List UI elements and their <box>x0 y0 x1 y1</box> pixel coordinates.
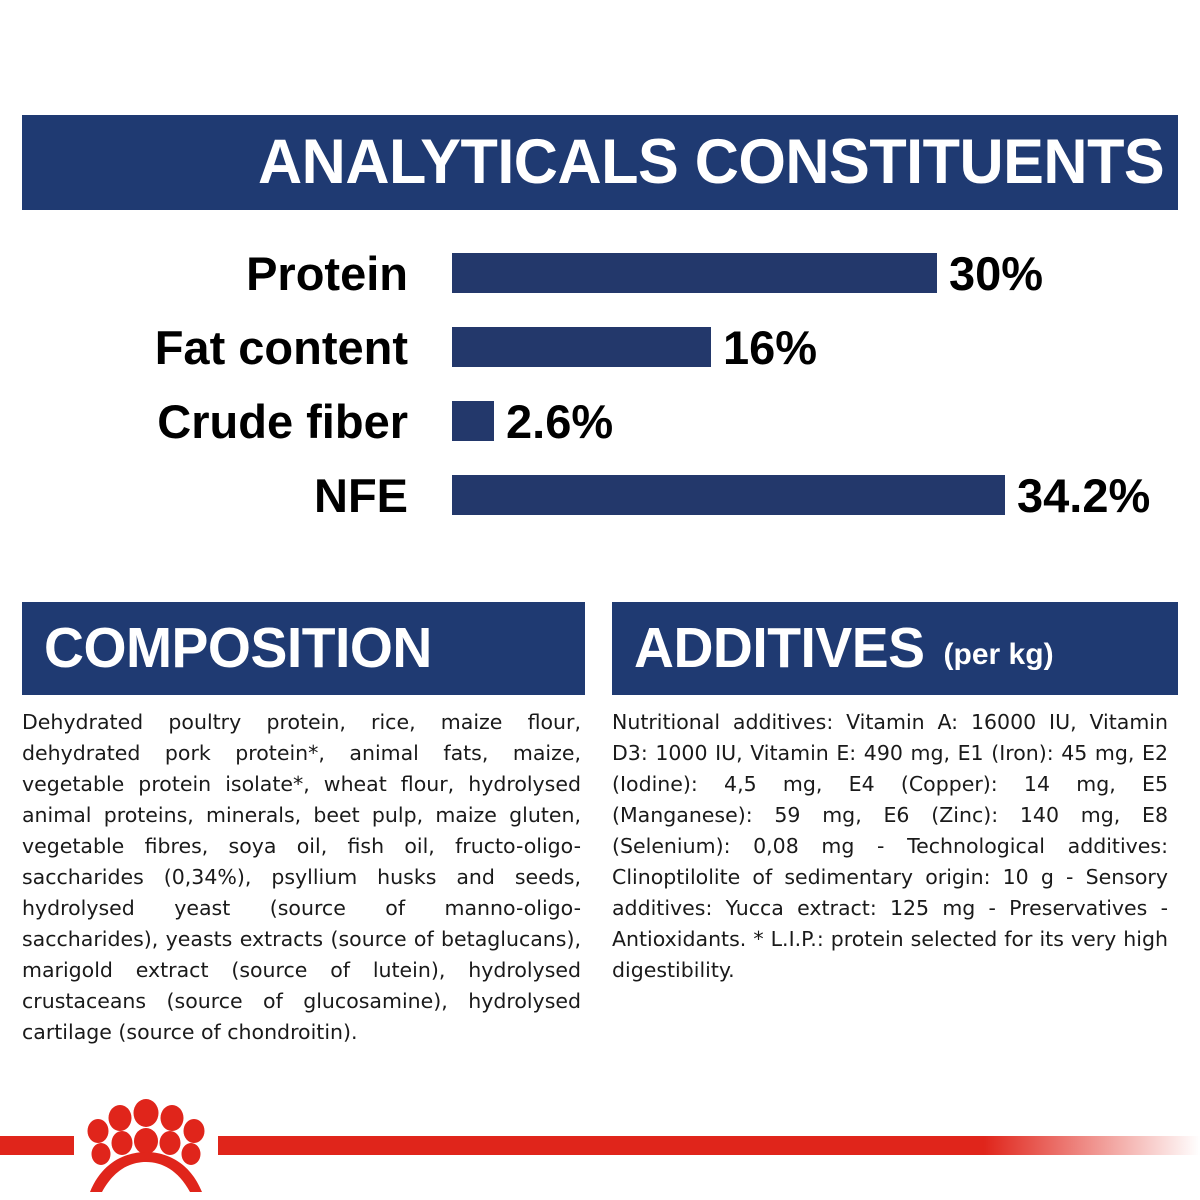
bar-value-label: 30% <box>949 250 1043 297</box>
bar-track: 34.2% <box>408 458 1200 532</box>
chart-row: Protein 30% <box>0 236 1200 310</box>
additives-heading-subtext: (per kg) <box>944 640 1054 670</box>
additives-heading-bar: ADDITIVES (per kg) <box>612 602 1178 695</box>
chart-row: Fat content 16% <box>0 310 1200 384</box>
composition-heading-bar: COMPOSITION <box>22 602 585 695</box>
chart-row: NFE 34.2% <box>0 458 1200 532</box>
footer-rule-right <box>218 1136 1200 1155</box>
analyticals-constituents-banner: ANALYTICALS CONSTITUENTS <box>22 115 1178 210</box>
additives-body-text: Nutritional additives: Vitamin A: 16000 … <box>612 707 1168 986</box>
bar-value-label: 34.2% <box>1017 472 1150 519</box>
brand-footer <box>0 1120 1200 1200</box>
composition-body-text: Dehydrated poultry protein, rice, maize … <box>22 707 581 1048</box>
additives-section: ADDITIVES (per kg) Nutritional additives… <box>612 602 1178 986</box>
bar-category-label: Protein <box>0 250 408 297</box>
bar-fill <box>452 475 1005 515</box>
bar-category-label: NFE <box>0 472 408 519</box>
banner-title: ANALYTICALS CONSTITUENTS <box>258 131 1164 194</box>
bar-category-label: Crude fiber <box>0 398 408 445</box>
royal-canin-crown-icon <box>82 1098 210 1194</box>
footer-rule-left <box>0 1136 74 1155</box>
analyticals-bar-chart: Protein 30% Fat content 16% Crude fiber … <box>0 232 1200 532</box>
bar-fill <box>452 253 937 293</box>
chart-row: Crude fiber 2.6% <box>0 384 1200 458</box>
bar-value-label: 2.6% <box>506 398 613 445</box>
bar-track: 2.6% <box>408 384 1200 458</box>
bar-category-label: Fat content <box>0 324 408 371</box>
bar-value-label: 16% <box>723 324 817 371</box>
nutrition-label-page: ANALYTICALS CONSTITUENTS Protein 30% Fat… <box>0 0 1200 1200</box>
bar-fill <box>452 327 711 367</box>
additives-heading-text: ADDITIVES <box>634 620 925 677</box>
bar-fill <box>452 401 494 441</box>
bar-track: 16% <box>408 310 1200 384</box>
composition-heading-text: COMPOSITION <box>44 620 432 677</box>
composition-section: COMPOSITION Dehydrated poultry protein, … <box>22 602 585 1048</box>
bar-track: 30% <box>408 236 1200 310</box>
